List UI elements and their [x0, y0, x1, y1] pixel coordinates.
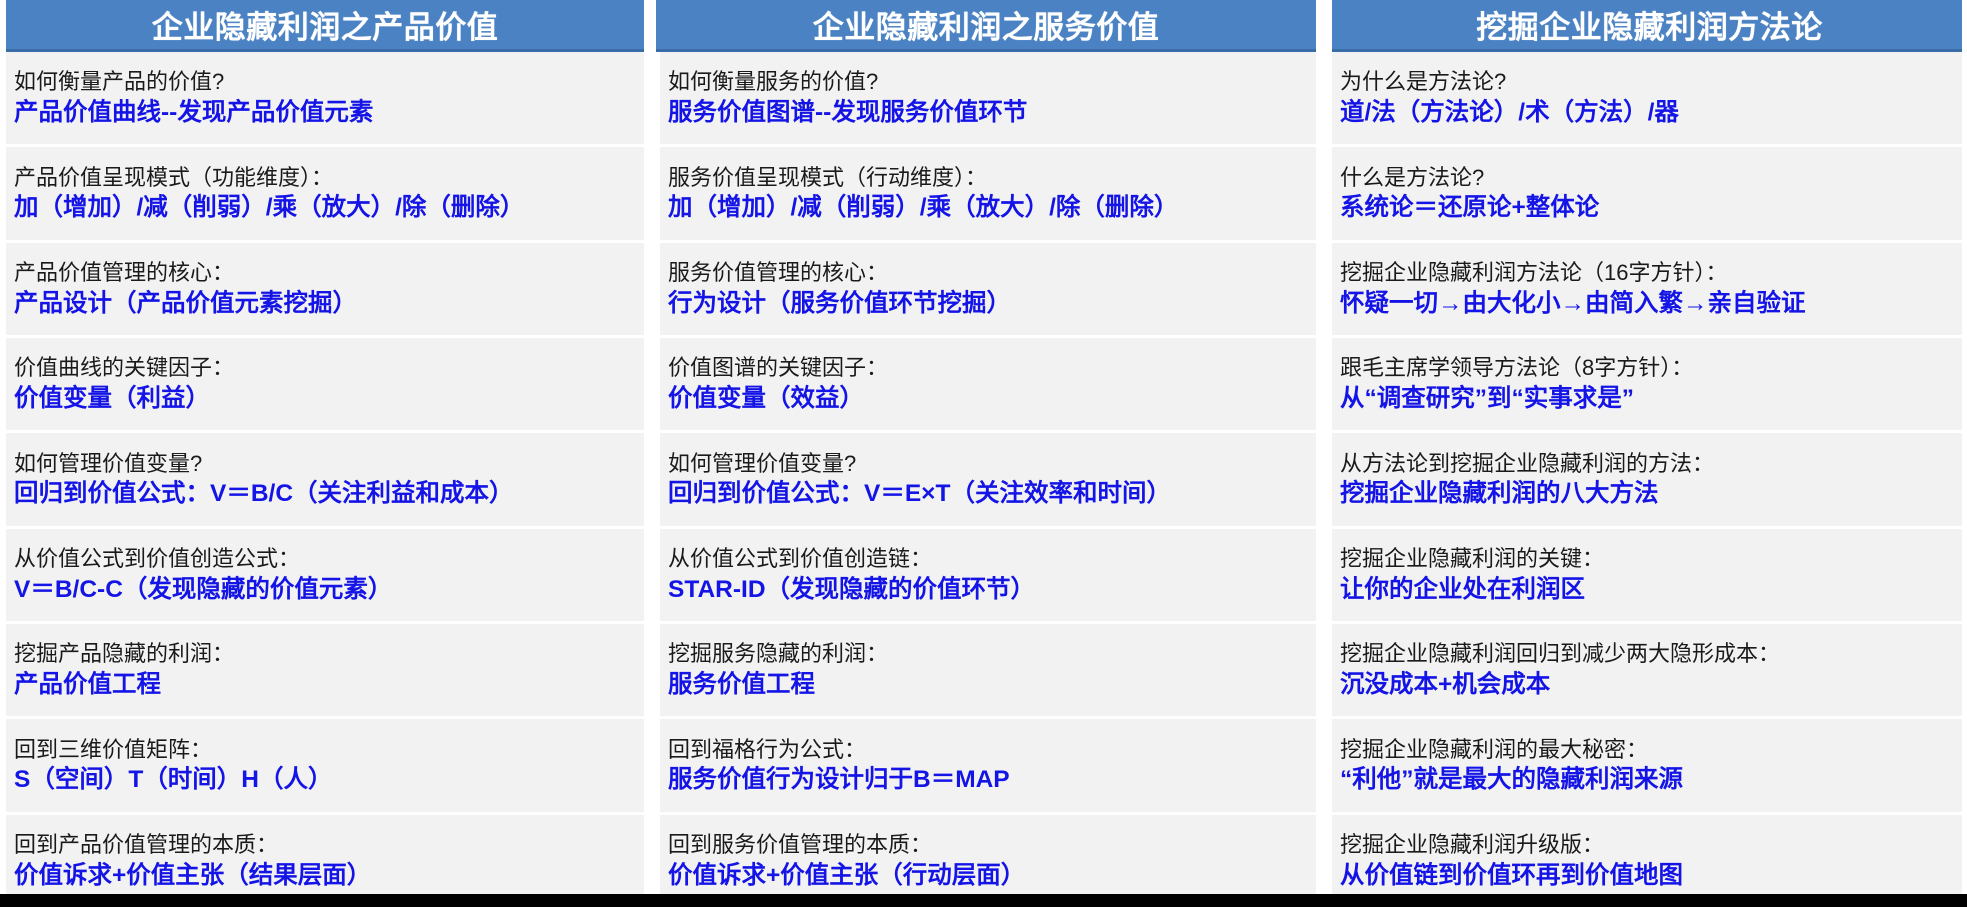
table-row[interactable]: 从价值公式到价值创造公式： V＝B/C-C（发现隐藏的价值元素）	[0, 529, 644, 624]
row-answer: 挖掘企业隐藏利润的八大方法	[1340, 479, 1959, 510]
table-row[interactable]: 为什么是方法论? 道/法（方法论）/术（方法）/器	[1326, 52, 1967, 147]
row-answer: 价值变量（效益）	[668, 384, 1308, 415]
row-question: 回到服务价值管理的本质：	[668, 831, 1308, 859]
row-answer: 服务价值图谱--发现服务价值环节	[668, 98, 1308, 129]
table-row[interactable]: 跟毛主席学领导方法论（8字方针）： 从“调查研究”到“实事求是”	[1326, 338, 1967, 433]
row-answer: 从“调查研究”到“实事求是”	[1340, 384, 1959, 415]
column-header-1: 企业隐藏利润之产品价值	[6, 0, 644, 52]
row-answer: 服务价值工程	[668, 670, 1308, 701]
table-row[interactable]: 产品价值呈现模式（功能维度）： 加（增加）/减（削弱）/乘（放大）/除（删除）	[0, 147, 644, 242]
row-answer: 回归到价值公式：V＝B/C（关注利益和成本）	[14, 479, 636, 510]
row-question: 产品价值管理的核心：	[14, 259, 636, 287]
table-row[interactable]: 挖掘企业隐藏利润的最大秘密： “利他”就是最大的隐藏利润来源	[1326, 719, 1967, 814]
row-question: 如何管理价值变量?	[668, 450, 1308, 478]
row-question: 从方法论到挖掘企业隐藏利润的方法：	[1340, 450, 1959, 478]
row-answer: 道/法（方法论）/术（方法）/器	[1340, 98, 1959, 129]
row-question: 挖掘企业隐藏利润升级版：	[1340, 831, 1959, 859]
row-answer: 加（增加）/减（削弱）/乘（放大）/除（删除）	[14, 193, 636, 224]
left-edge-strip	[0, 0, 6, 894]
row-question: 挖掘企业隐藏利润方法论（16字方针）：	[1340, 259, 1959, 287]
table-row[interactable]: 回到三维价值矩阵： S（空间）T（时间）H（人）	[0, 719, 644, 814]
row-question: 什么是方法论?	[1340, 164, 1959, 192]
row-answer: 从价值链到价值环再到价值地图	[1340, 861, 1959, 892]
row-question: 从价值公式到价值创造链：	[668, 545, 1308, 573]
row-question: 如何衡量服务的价值?	[668, 68, 1308, 96]
row-answer: STAR-ID（发现隐藏的价值环节）	[668, 575, 1308, 606]
table-row[interactable]: 价值图谱的关键因子： 价值变量（效益）	[656, 338, 1316, 433]
row-answer: 价值诉求+价值主张（行动层面）	[668, 861, 1308, 892]
row-answer: 价值诉求+价值主张（结果层面）	[14, 861, 636, 892]
row-answer: 加（增加）/减（削弱）/乘（放大）/除（删除）	[668, 193, 1308, 224]
row-answer: 产品价值工程	[14, 670, 636, 701]
row-question: 服务价值呈现模式（行动维度）：	[668, 164, 1308, 192]
table-row[interactable]: 产品价值管理的核心： 产品设计（产品价值元素挖掘）	[0, 243, 644, 338]
table-row[interactable]: 挖掘企业隐藏利润的关键： 让你的企业处在利润区	[1326, 529, 1967, 624]
bottom-black-bar	[0, 894, 1967, 907]
slide-root: 企业隐藏利润之产品价值 如何衡量产品的价值? 产品价值曲线--发现产品价值元素 …	[0, 0, 1967, 907]
row-answer: V＝B/C-C（发现隐藏的价值元素）	[14, 575, 636, 606]
table-row[interactable]: 如何衡量服务的价值? 服务价值图谱--发现服务价值环节	[656, 52, 1316, 147]
row-question: 挖掘企业隐藏利润回归到减少两大隐形成本：	[1340, 640, 1959, 668]
row-question: 挖掘企业隐藏利润的关键：	[1340, 545, 1959, 573]
row-question: 如何管理价值变量?	[14, 450, 636, 478]
table-row[interactable]: 挖掘企业隐藏利润方法论（16字方针）： 怀疑一切→由大化小→由简入繁→亲自验证	[1326, 243, 1967, 338]
column-header-3: 挖掘企业隐藏利润方法论	[1332, 0, 1967, 52]
row-answer: “利他”就是最大的隐藏利润来源	[1340, 765, 1959, 796]
column-gap-1	[644, 0, 656, 907]
row-answer: 回归到价值公式：V＝E×T（关注效率和时间）	[668, 479, 1308, 510]
table-row[interactable]: 挖掘企业隐藏利润回归到减少两大隐形成本： 沉没成本+机会成本	[1326, 624, 1967, 719]
table-row[interactable]: 从方法论到挖掘企业隐藏利润的方法： 挖掘企业隐藏利润的八大方法	[1326, 433, 1967, 528]
row-question: 跟毛主席学领导方法论（8字方针）：	[1340, 354, 1959, 382]
table-row[interactable]: 回到福格行为公式： 服务价值行为设计归于B＝MAP	[656, 719, 1316, 814]
row-question: 回到福格行为公式：	[668, 736, 1308, 764]
row-question: 为什么是方法论?	[1340, 68, 1959, 96]
row-answer: 系统论＝还原论+整体论	[1340, 193, 1959, 224]
row-answer: 怀疑一切→由大化小→由简入繁→亲自验证	[1340, 289, 1959, 320]
column-product-value: 企业隐藏利润之产品价值 如何衡量产品的价值? 产品价值曲线--发现产品价值元素 …	[0, 0, 644, 907]
table-row[interactable]: 挖掘服务隐藏的利润： 服务价值工程	[656, 624, 1316, 719]
row-answer: 价值变量（利益）	[14, 384, 636, 415]
row-answer: 产品价值曲线--发现产品价值元素	[14, 98, 636, 129]
row-question: 服务价值管理的核心：	[668, 259, 1308, 287]
table-row[interactable]: 如何管理价值变量? 回归到价值公式：V＝B/C（关注利益和成本）	[0, 433, 644, 528]
row-question: 产品价值呈现模式（功能维度）：	[14, 164, 636, 192]
table-row[interactable]: 如何管理价值变量? 回归到价值公式：V＝E×T（关注效率和时间）	[656, 433, 1316, 528]
row-question: 回到产品价值管理的本质：	[14, 831, 636, 859]
row-answer: S（空间）T（时间）H（人）	[14, 765, 636, 796]
row-answer: 让你的企业处在利润区	[1340, 575, 1959, 606]
table-row[interactable]: 什么是方法论? 系统论＝还原论+整体论	[1326, 147, 1967, 242]
column-methodology: 挖掘企业隐藏利润方法论 为什么是方法论? 道/法（方法论）/术（方法）/器 什么…	[1326, 0, 1967, 907]
table-row[interactable]: 价值曲线的关键因子： 价值变量（利益）	[0, 338, 644, 433]
row-question: 价值曲线的关键因子：	[14, 354, 636, 382]
row-question: 挖掘产品隐藏的利润：	[14, 640, 636, 668]
row-question: 挖掘企业隐藏利润的最大秘密：	[1340, 736, 1959, 764]
table-row[interactable]: 挖掘产品隐藏的利润： 产品价值工程	[0, 624, 644, 719]
column-body-1: 如何衡量产品的价值? 产品价值曲线--发现产品价值元素 产品价值呈现模式（功能维…	[0, 52, 644, 907]
row-question: 回到三维价值矩阵：	[14, 736, 636, 764]
row-answer: 产品设计（产品价值元素挖掘）	[14, 289, 636, 320]
row-answer: 沉没成本+机会成本	[1340, 670, 1959, 701]
row-answer: 服务价值行为设计归于B＝MAP	[668, 765, 1308, 796]
table-row[interactable]: 从价值公式到价值创造链： STAR-ID（发现隐藏的价值环节）	[656, 529, 1316, 624]
column-service-value: 企业隐藏利润之服务价值 如何衡量服务的价值? 服务价值图谱--发现服务价值环节 …	[656, 0, 1316, 907]
row-question: 价值图谱的关键因子：	[668, 354, 1308, 382]
row-answer: 行为设计（服务价值环节挖掘）	[668, 289, 1308, 320]
column-gap-2	[1316, 0, 1326, 907]
column-body-3: 为什么是方法论? 道/法（方法论）/术（方法）/器 什么是方法论? 系统论＝还原…	[1326, 52, 1967, 907]
table-row[interactable]: 服务价值呈现模式（行动维度）： 加（增加）/减（削弱）/乘（放大）/除（删除）	[656, 147, 1316, 242]
row-question: 如何衡量产品的价值?	[14, 68, 636, 96]
column-header-2: 企业隐藏利润之服务价值	[656, 0, 1316, 52]
row-question: 从价值公式到价值创造公式：	[14, 545, 636, 573]
table-row[interactable]: 服务价值管理的核心： 行为设计（服务价值环节挖掘）	[656, 243, 1316, 338]
column-body-2: 如何衡量服务的价值? 服务价值图谱--发现服务价值环节 服务价值呈现模式（行动维…	[656, 52, 1316, 907]
right-edge-strip	[1962, 0, 1967, 894]
table-row[interactable]: 如何衡量产品的价值? 产品价值曲线--发现产品价值元素	[0, 52, 644, 147]
row-question: 挖掘服务隐藏的利润：	[668, 640, 1308, 668]
